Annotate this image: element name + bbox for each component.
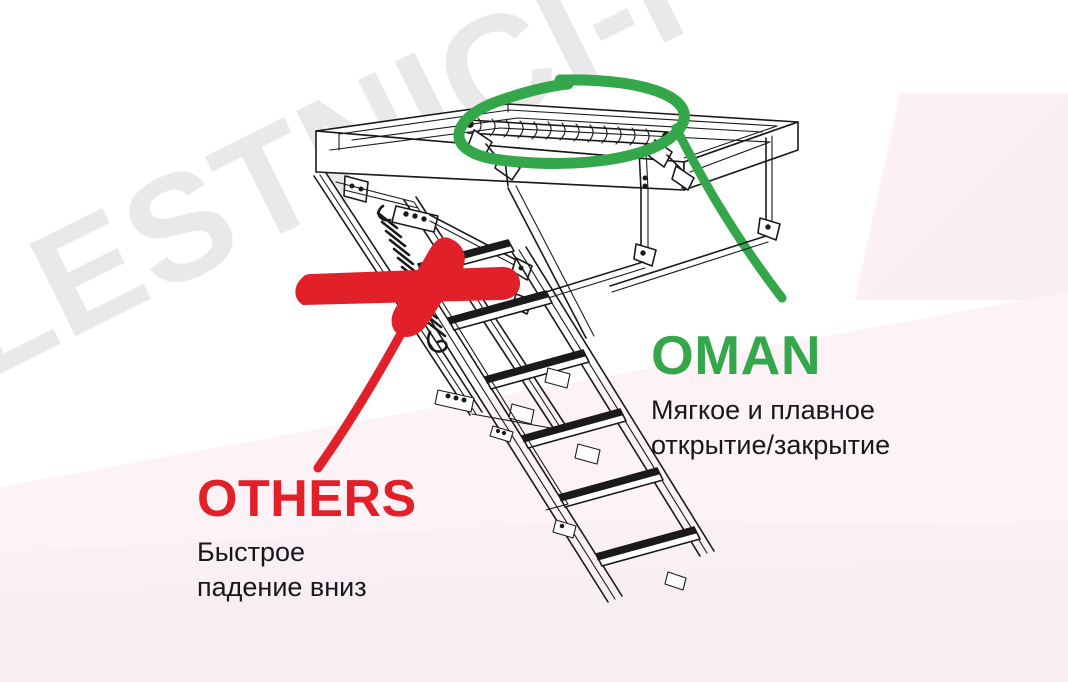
- others-description-line1: Быстрое: [197, 535, 417, 570]
- oman-description-line1: Мягкое и плавное: [651, 393, 890, 428]
- others-title: OTHERS: [197, 473, 417, 525]
- ladder-rung: [596, 527, 700, 566]
- others-description-line2: падение вниз: [197, 570, 417, 605]
- oman-description: Мягкое и плавное открытие/закрытие: [651, 393, 890, 462]
- ceiling-hatch-box: [316, 104, 798, 190]
- ladder-rung: [485, 350, 589, 389]
- oman-label-block: OMAN Мягкое и плавное открытие/закрытие: [651, 328, 890, 462]
- others-label-block: OTHERS Быстрое падение вниз: [197, 473, 417, 604]
- illustration-canvas: LESTNICI-PROSTO.RU .ln { fill:none; stro…: [0, 0, 1068, 682]
- ladder-rung: [522, 409, 626, 448]
- oman-description-line2: открытие/закрытие: [651, 428, 890, 463]
- red-arrow-callout: [295, 237, 520, 468]
- others-description: Быстрое падение вниз: [197, 535, 417, 604]
- oman-title: OMAN: [651, 328, 890, 383]
- ladder-rung: [559, 468, 663, 507]
- ladder-technical-drawing: .ln { fill:none; stroke:#1a1a1a; stroke-…: [0, 0, 1068, 682]
